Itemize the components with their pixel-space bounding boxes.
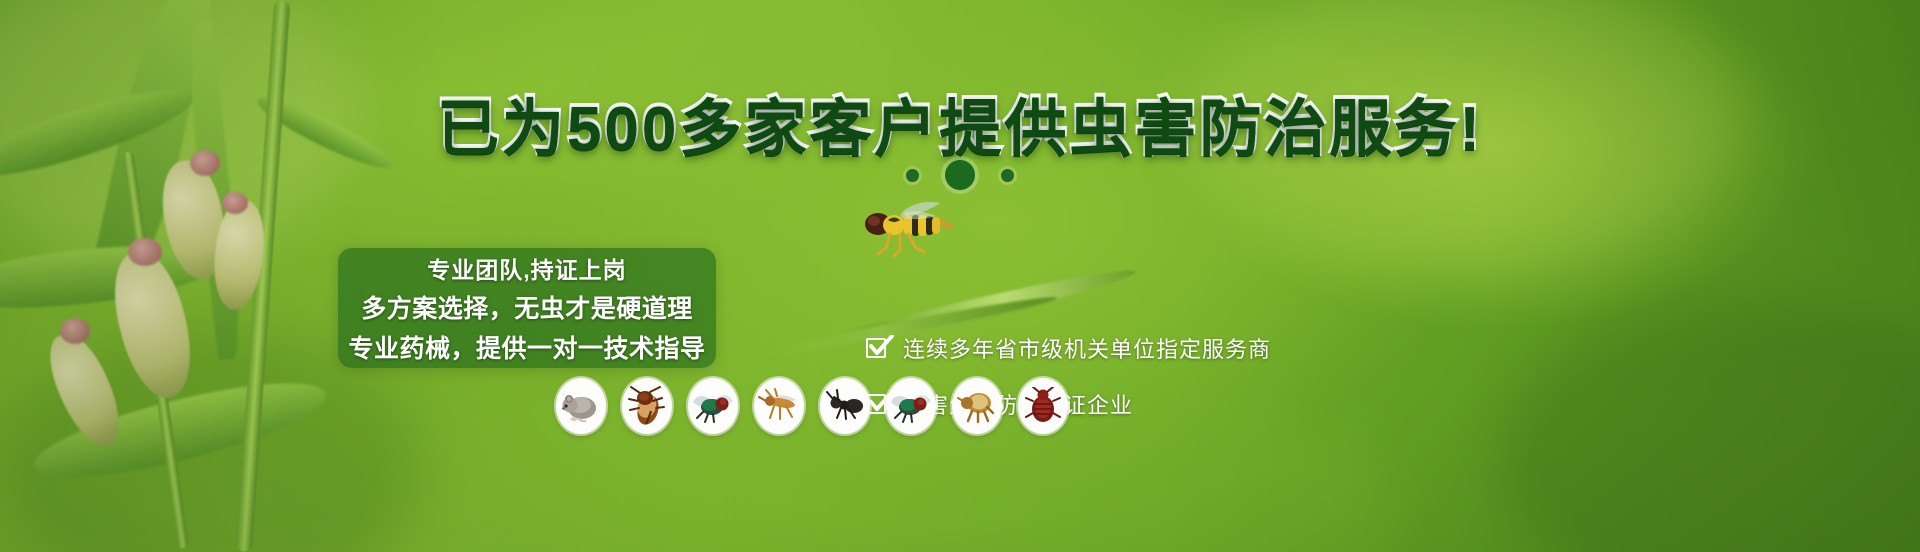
page-title: 已为500多家客户提供虫害防治服务! [0,76,1920,166]
decorative-dots [0,160,1920,190]
fly-icon [688,378,738,434]
hoverfly-icon [850,198,960,260]
bedbug-icon [1018,378,1068,434]
cockroach-icon [622,378,672,434]
decorative-dot-small-left [906,169,919,182]
decorative-dot-large-center [945,160,975,190]
mouse-icon [556,378,606,434]
selling-point-line-2: 多方案选择，无虫才是硬道理 [361,289,693,325]
ant-icon [820,378,870,434]
page-title-text: 已为500多家客户提供虫害防治服务! [437,93,1483,162]
credential-label-1: 连续多年省市级机关单位指定服务商 [903,332,1271,364]
mosquito-icon [754,378,804,434]
pest-icon-row [556,378,1068,434]
fly-icon [886,378,936,434]
decorative-dot-small-right [1001,169,1014,182]
credential-item-1: 连续多年省市级机关单位指定服务商 [866,332,1271,364]
selling-points-text: 专业团队,持证上岗 多方案选择，无虫才是硬道理 专业药械，提供一对一技术指导 [338,248,716,368]
check-box-icon [866,337,889,360]
selling-point-line-1: 专业团队,持证上岗 [427,251,626,285]
flea-icon [952,378,1002,434]
selling-point-line-3: 专业药械，提供一对一技术指导 [348,329,705,365]
promo-banner: 已为500多家客户提供虫害防治服务! 专业团队,持证上岗 多方案选择，无虫才是硬… [0,0,1920,552]
